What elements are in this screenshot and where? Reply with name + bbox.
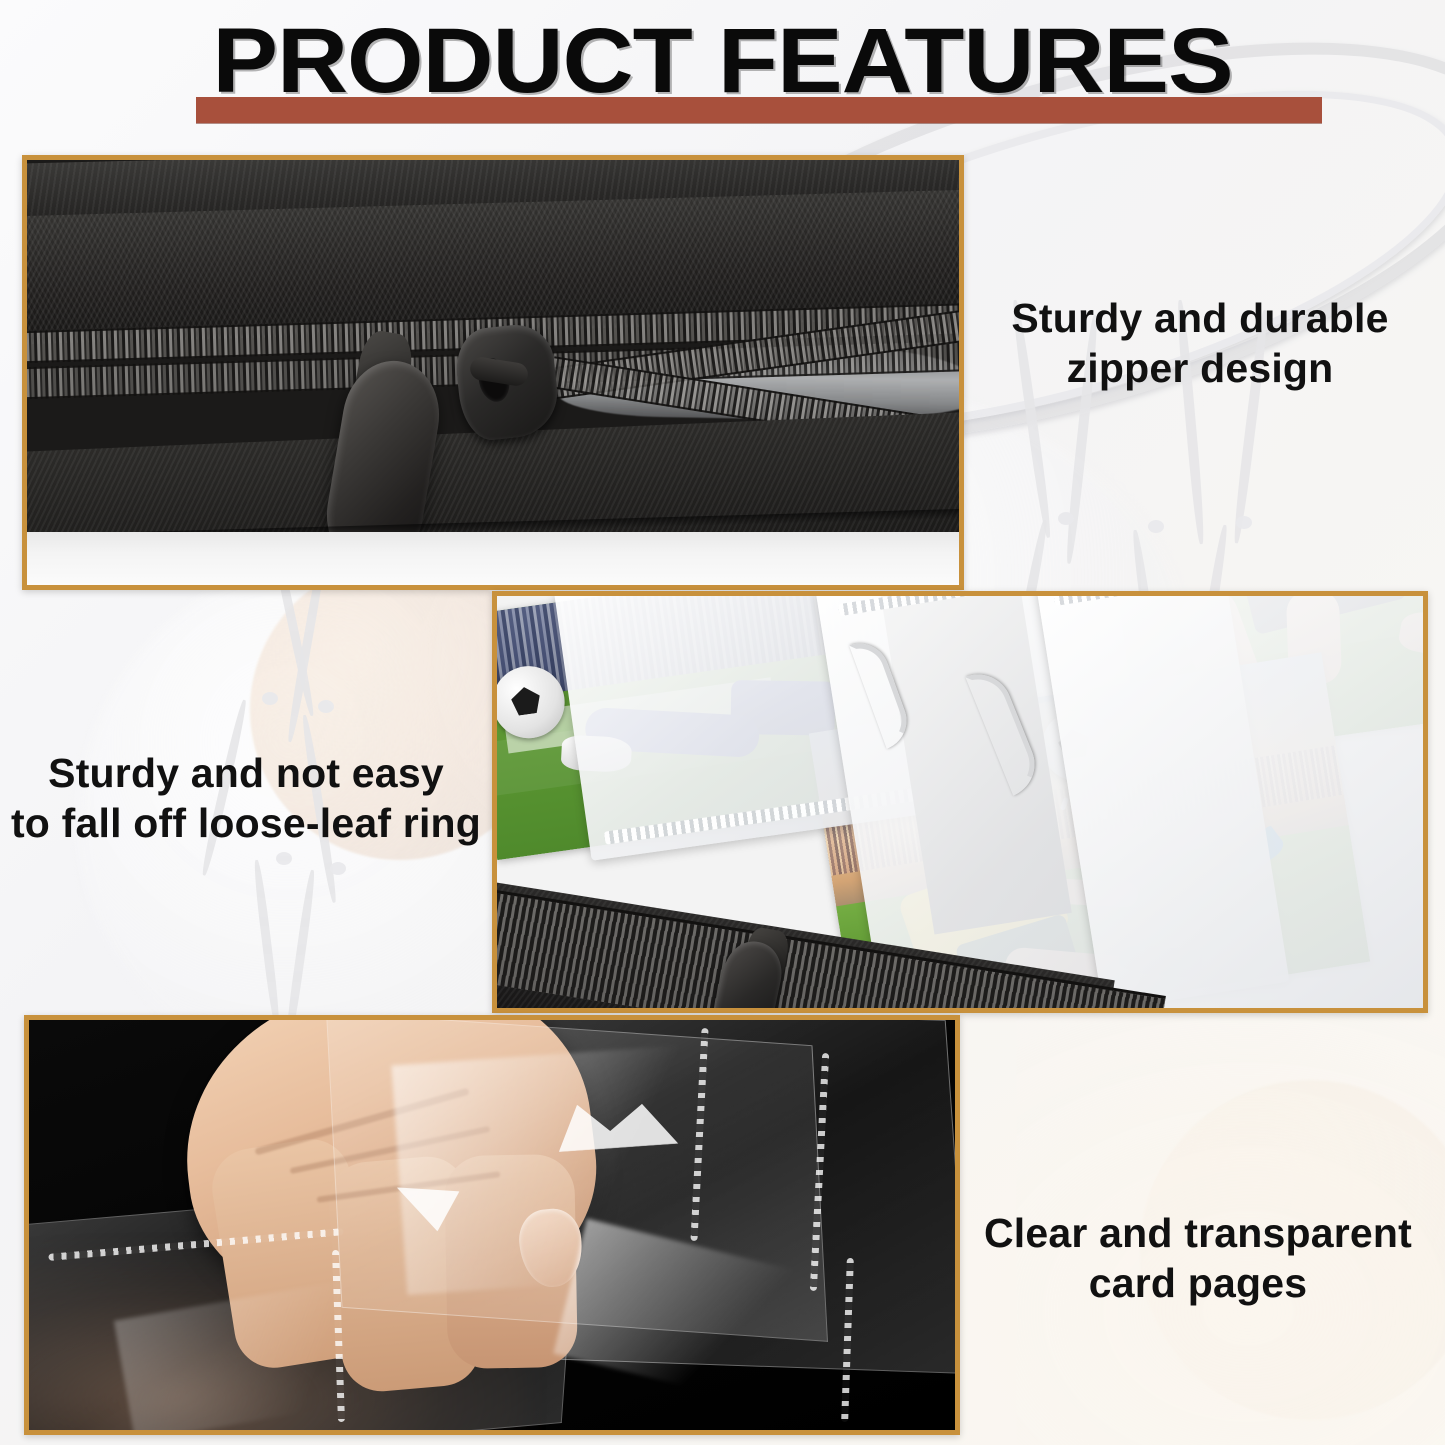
caption-loose-leaf-ring: Sturdy and not easy to fall off loose-le… — [0, 748, 492, 848]
sleeve-right-edge-texture — [1054, 596, 1423, 605]
clear-card-page-photo — [24, 1015, 960, 1435]
caption-clear-pages: Clear and transparent card pages — [955, 1208, 1441, 1308]
zipper-white-surface — [27, 532, 959, 585]
page-header: PRODUCT FEATURES — [0, 0, 1445, 150]
clear-photo-inner — [29, 1020, 955, 1430]
binder-photo-inner: 10 — [497, 596, 1423, 1008]
caption-zipper-line1: Sturdy and durable — [960, 293, 1440, 343]
clear-sleeve-right — [1036, 596, 1423, 1008]
page-title: PRODUCT FEATURES — [0, 13, 1445, 109]
zipper-photo-inner — [27, 160, 959, 585]
caption-ring-line1: Sturdy and not easy — [0, 748, 492, 798]
infographic-canvas: PRODUCT FEATURES Sturdy and durable zipp… — [0, 0, 1445, 1445]
binder-loose-leaf-ring-photo: 10 — [492, 591, 1428, 1013]
caption-clear-line1: Clear and transparent — [955, 1208, 1441, 1258]
caption-zipper-line2: zipper design — [960, 343, 1440, 393]
caption-ring-line2: to fall off loose-leaf ring — [0, 798, 492, 848]
caption-clear-line2: card pages — [955, 1258, 1441, 1308]
caption-zipper: Sturdy and durable zipper design — [960, 293, 1440, 393]
zipper-closeup-photo — [22, 155, 964, 590]
